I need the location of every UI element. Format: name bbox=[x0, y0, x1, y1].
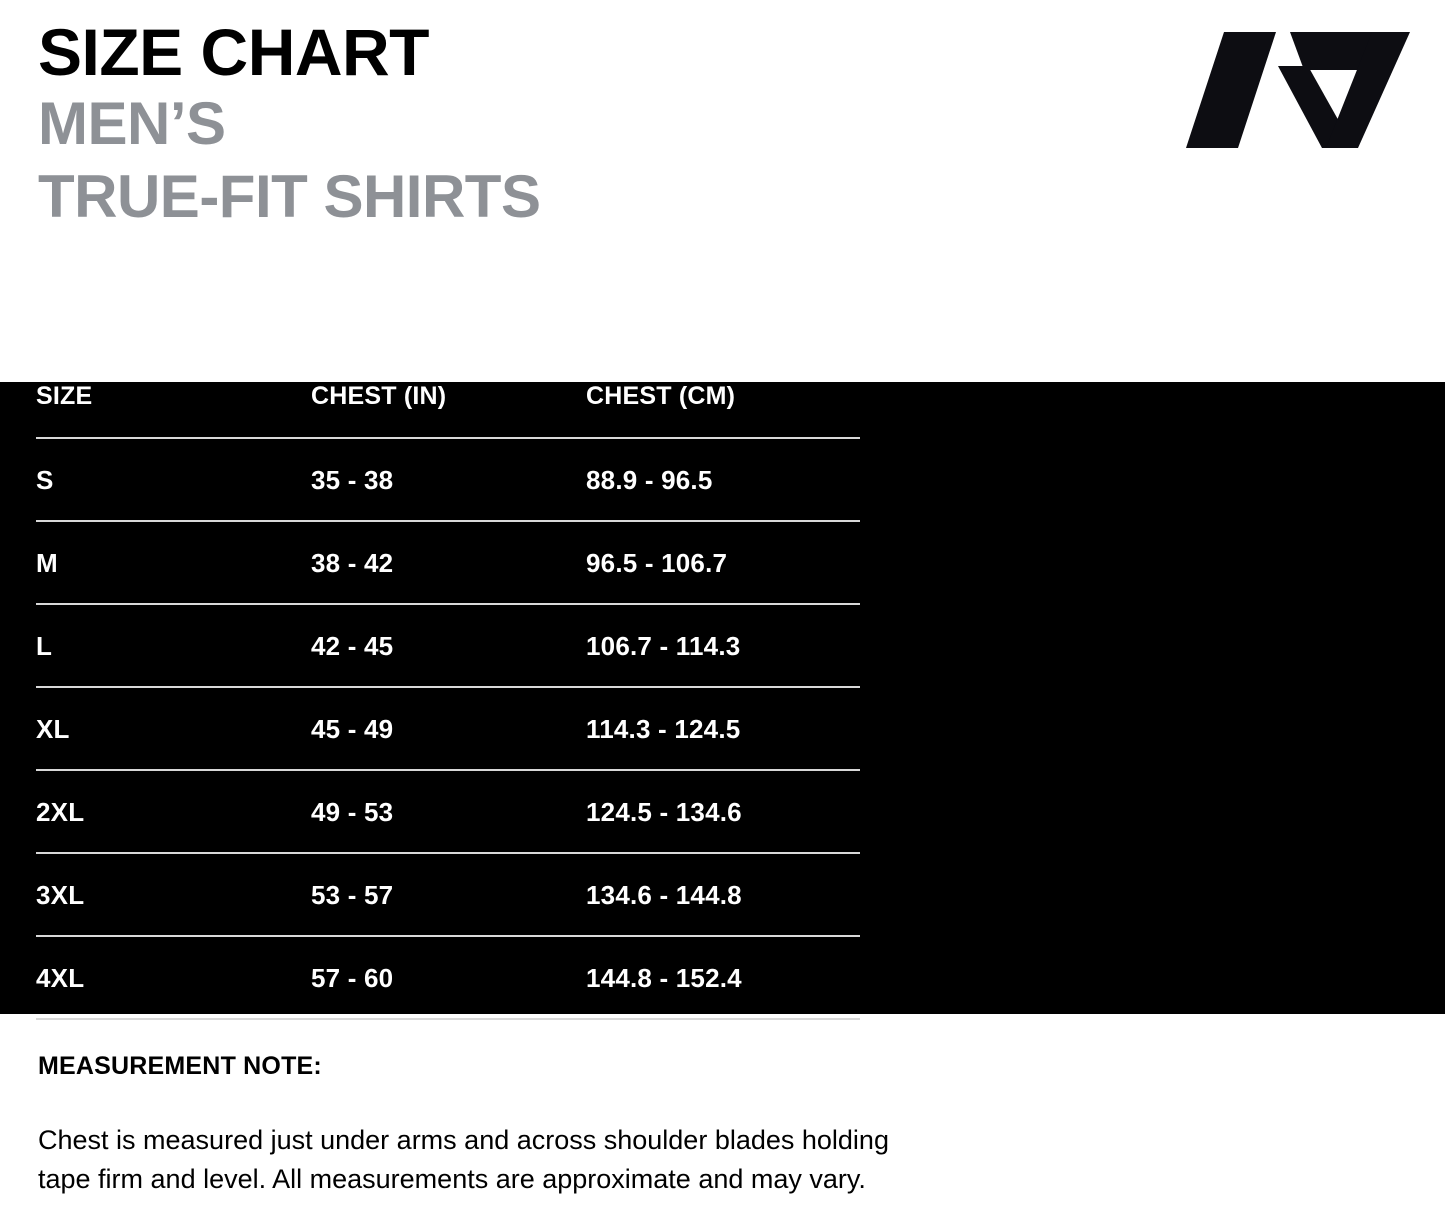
cell-chest-in: 42 - 45 bbox=[311, 604, 586, 687]
table-row: 4XL 57 - 60 144.8 - 152.4 bbox=[36, 936, 860, 1019]
cell-chest-in: 35 - 38 bbox=[311, 438, 586, 521]
measurement-note-title: MEASUREMENT NOTE: bbox=[38, 1052, 1407, 1081]
page-header: SIZE CHART MEN’S TRUE-FIT SHIRTS bbox=[0, 0, 1445, 348]
a7-logo-icon bbox=[1186, 32, 1410, 148]
cell-chest-cm: 124.5 - 134.6 bbox=[586, 770, 860, 853]
cell-size: S bbox=[36, 438, 311, 521]
cell-size: L bbox=[36, 604, 311, 687]
column-header-size: SIZE bbox=[36, 382, 311, 438]
measurement-note-section: MEASUREMENT NOTE: Chest is measured just… bbox=[0, 1014, 1445, 1199]
cell-chest-cm: 96.5 - 106.7 bbox=[586, 521, 860, 604]
cell-chest-in: 53 - 57 bbox=[311, 853, 586, 936]
cell-size: 3XL bbox=[36, 853, 311, 936]
cell-size: 4XL bbox=[36, 936, 311, 1019]
table-row: M 38 - 42 96.5 - 106.7 bbox=[36, 521, 860, 604]
table-header-row: SIZE CHEST (IN) CHEST (CM) bbox=[36, 382, 860, 438]
table-row: 3XL 53 - 57 134.6 - 144.8 bbox=[36, 853, 860, 936]
cell-chest-cm: 106.7 - 114.3 bbox=[586, 604, 860, 687]
column-header-chest-cm: CHEST (CM) bbox=[586, 382, 860, 438]
table-row: L 42 - 45 106.7 - 114.3 bbox=[36, 604, 860, 687]
cell-size: M bbox=[36, 521, 311, 604]
table-row: S 35 - 38 88.9 - 96.5 bbox=[36, 438, 860, 521]
cell-chest-cm: 134.6 - 144.8 bbox=[586, 853, 860, 936]
cell-chest-in: 45 - 49 bbox=[311, 687, 586, 770]
page-title: SIZE CHART bbox=[38, 18, 540, 87]
table-row: 2XL 49 - 53 124.5 - 134.6 bbox=[36, 770, 860, 853]
cell-size: 2XL bbox=[36, 770, 311, 853]
column-header-chest-in: CHEST (IN) bbox=[311, 382, 586, 438]
size-chart-table: SIZE CHEST (IN) CHEST (CM) S 35 - 38 88.… bbox=[36, 382, 860, 1020]
cell-chest-in: 49 - 53 bbox=[311, 770, 586, 853]
header-title-block: SIZE CHART MEN’S TRUE-FIT SHIRTS bbox=[38, 18, 540, 234]
page-subtitle-line-2: TRUE-FIT SHIRTS bbox=[38, 160, 540, 233]
cell-chest-cm: 88.9 - 96.5 bbox=[586, 438, 860, 521]
cell-size: XL bbox=[36, 687, 311, 770]
cell-chest-cm: 144.8 - 152.4 bbox=[586, 936, 860, 1019]
cell-chest-in: 38 - 42 bbox=[311, 521, 586, 604]
cell-chest-in: 57 - 60 bbox=[311, 936, 586, 1019]
size-chart-panel: SIZE CHEST (IN) CHEST (CM) S 35 - 38 88.… bbox=[0, 382, 1445, 1014]
measurement-note-body: Chest is measured just under arms and ac… bbox=[38, 1121, 898, 1199]
cell-chest-cm: 114.3 - 124.5 bbox=[586, 687, 860, 770]
table-row: XL 45 - 49 114.3 - 124.5 bbox=[36, 687, 860, 770]
page-subtitle-line-1: MEN’S bbox=[38, 87, 540, 160]
